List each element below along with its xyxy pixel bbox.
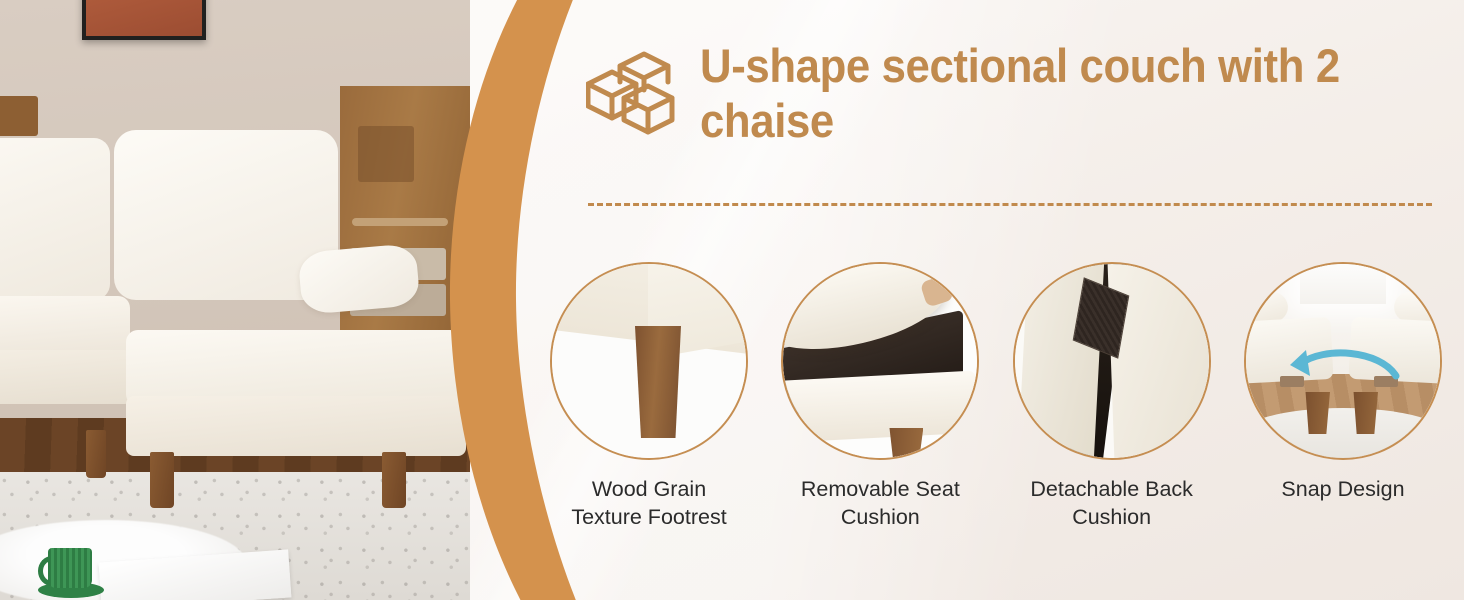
snap-arrow-icon: [1280, 342, 1404, 393]
dashed-divider: [588, 203, 1432, 206]
feature-list: Wood Grain Texture Footrest Removable Se…: [540, 262, 1452, 531]
feature-caption: Snap Design: [1281, 476, 1404, 504]
product-feature-banner: U-shape sectional couch with 2 chaise Wo…: [0, 0, 1464, 600]
feature-item-wood-grain-texture-footrest[interactable]: Wood Grain Texture Footrest: [540, 262, 758, 531]
feature-caption: Wood Grain Texture Footrest: [571, 476, 726, 531]
feature-image-wood-grain-texture-footrest: [550, 262, 748, 460]
three-boxes-icon: [586, 46, 678, 143]
feature-item-detachable-back-cushion[interactable]: Detachable Back Cushion: [1003, 262, 1221, 531]
feature-image-snap-design: [1244, 262, 1442, 460]
feature-image-removable-seat-cushion: [781, 262, 979, 460]
feature-caption: Removable Seat Cushion: [801, 476, 960, 531]
feature-caption: Detachable Back Cushion: [1030, 476, 1193, 531]
feature-content: U-shape sectional couch with 2 chaise Wo…: [0, 0, 1464, 600]
feature-item-removable-seat-cushion[interactable]: Removable Seat Cushion: [771, 262, 989, 531]
feature-image-detachable-back-cushion: [1013, 262, 1211, 460]
page-title: U-shape sectional couch with 2 chaise: [700, 38, 1351, 149]
headline-row: U-shape sectional couch with 2 chaise: [586, 38, 1400, 149]
feature-item-snap-design[interactable]: Snap Design: [1234, 262, 1452, 531]
